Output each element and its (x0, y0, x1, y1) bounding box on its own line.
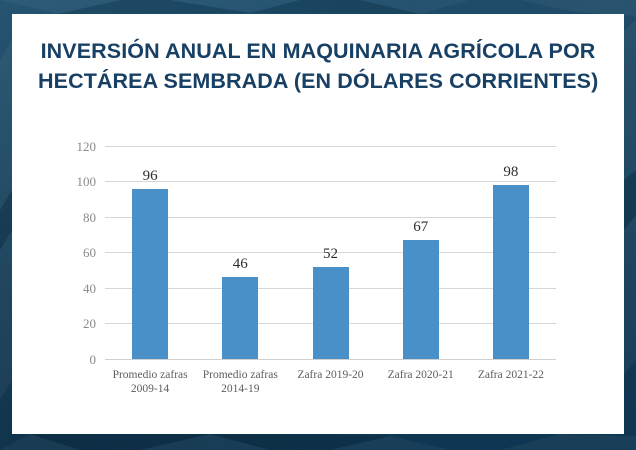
gridline-80 (105, 217, 556, 218)
bar-value-label-3: 52 (301, 246, 361, 262)
bar-value-label-5: 98 (481, 164, 541, 180)
x-axis-tick-label-4: Zafra 2020-21 (376, 368, 466, 382)
x-axis-tick-label-line: Promedio zafras (105, 368, 195, 382)
y-axis-tick-label: 60 (50, 246, 96, 259)
bar-chart: 02040608010012096Promedio zafras2009-144… (12, 14, 624, 434)
slide-frame: INVERSIÓN ANUAL EN MAQUINARIA AGRÍCOLA P… (0, 0, 636, 450)
x-axis-tick-label-line: 2009-14 (105, 382, 195, 396)
bar-5[interactable] (493, 185, 529, 359)
bar-2[interactable] (222, 277, 258, 359)
bar-4[interactable] (403, 240, 439, 359)
slide-content-card: INVERSIÓN ANUAL EN MAQUINARIA AGRÍCOLA P… (12, 14, 624, 434)
y-axis-tick-label: 0 (50, 353, 96, 366)
x-axis-tick-label-line: 2014-19 (195, 382, 285, 396)
y-axis-tick-label: 120 (50, 140, 96, 153)
x-axis-tick-label-line: Promedio zafras (195, 368, 285, 382)
x-axis-tick-label-line: Zafra 2020-21 (376, 368, 466, 382)
x-axis-tick-label-1: Promedio zafras2009-14 (105, 368, 195, 396)
bar-1[interactable] (132, 189, 168, 359)
bar-value-label-4: 67 (391, 219, 451, 235)
y-axis-tick-label: 20 (50, 317, 96, 330)
gridline-0 (105, 359, 556, 360)
y-axis-tick-label: 80 (50, 211, 96, 224)
x-axis-tick-label-5: Zafra 2021-22 (466, 368, 556, 382)
bar-value-label-2: 46 (210, 256, 270, 272)
x-axis-tick-label-line: Zafra 2019-20 (285, 368, 375, 382)
bar-value-label-1: 96 (120, 168, 180, 184)
bar-3[interactable] (313, 267, 349, 359)
y-axis-tick-label: 40 (50, 282, 96, 295)
x-axis-tick-label-2: Promedio zafras2014-19 (195, 368, 285, 396)
y-axis-tick-label: 100 (50, 175, 96, 188)
gridline-120 (105, 146, 556, 147)
x-axis-tick-label-3: Zafra 2019-20 (285, 368, 375, 382)
x-axis-tick-label-line: Zafra 2021-22 (466, 368, 556, 382)
